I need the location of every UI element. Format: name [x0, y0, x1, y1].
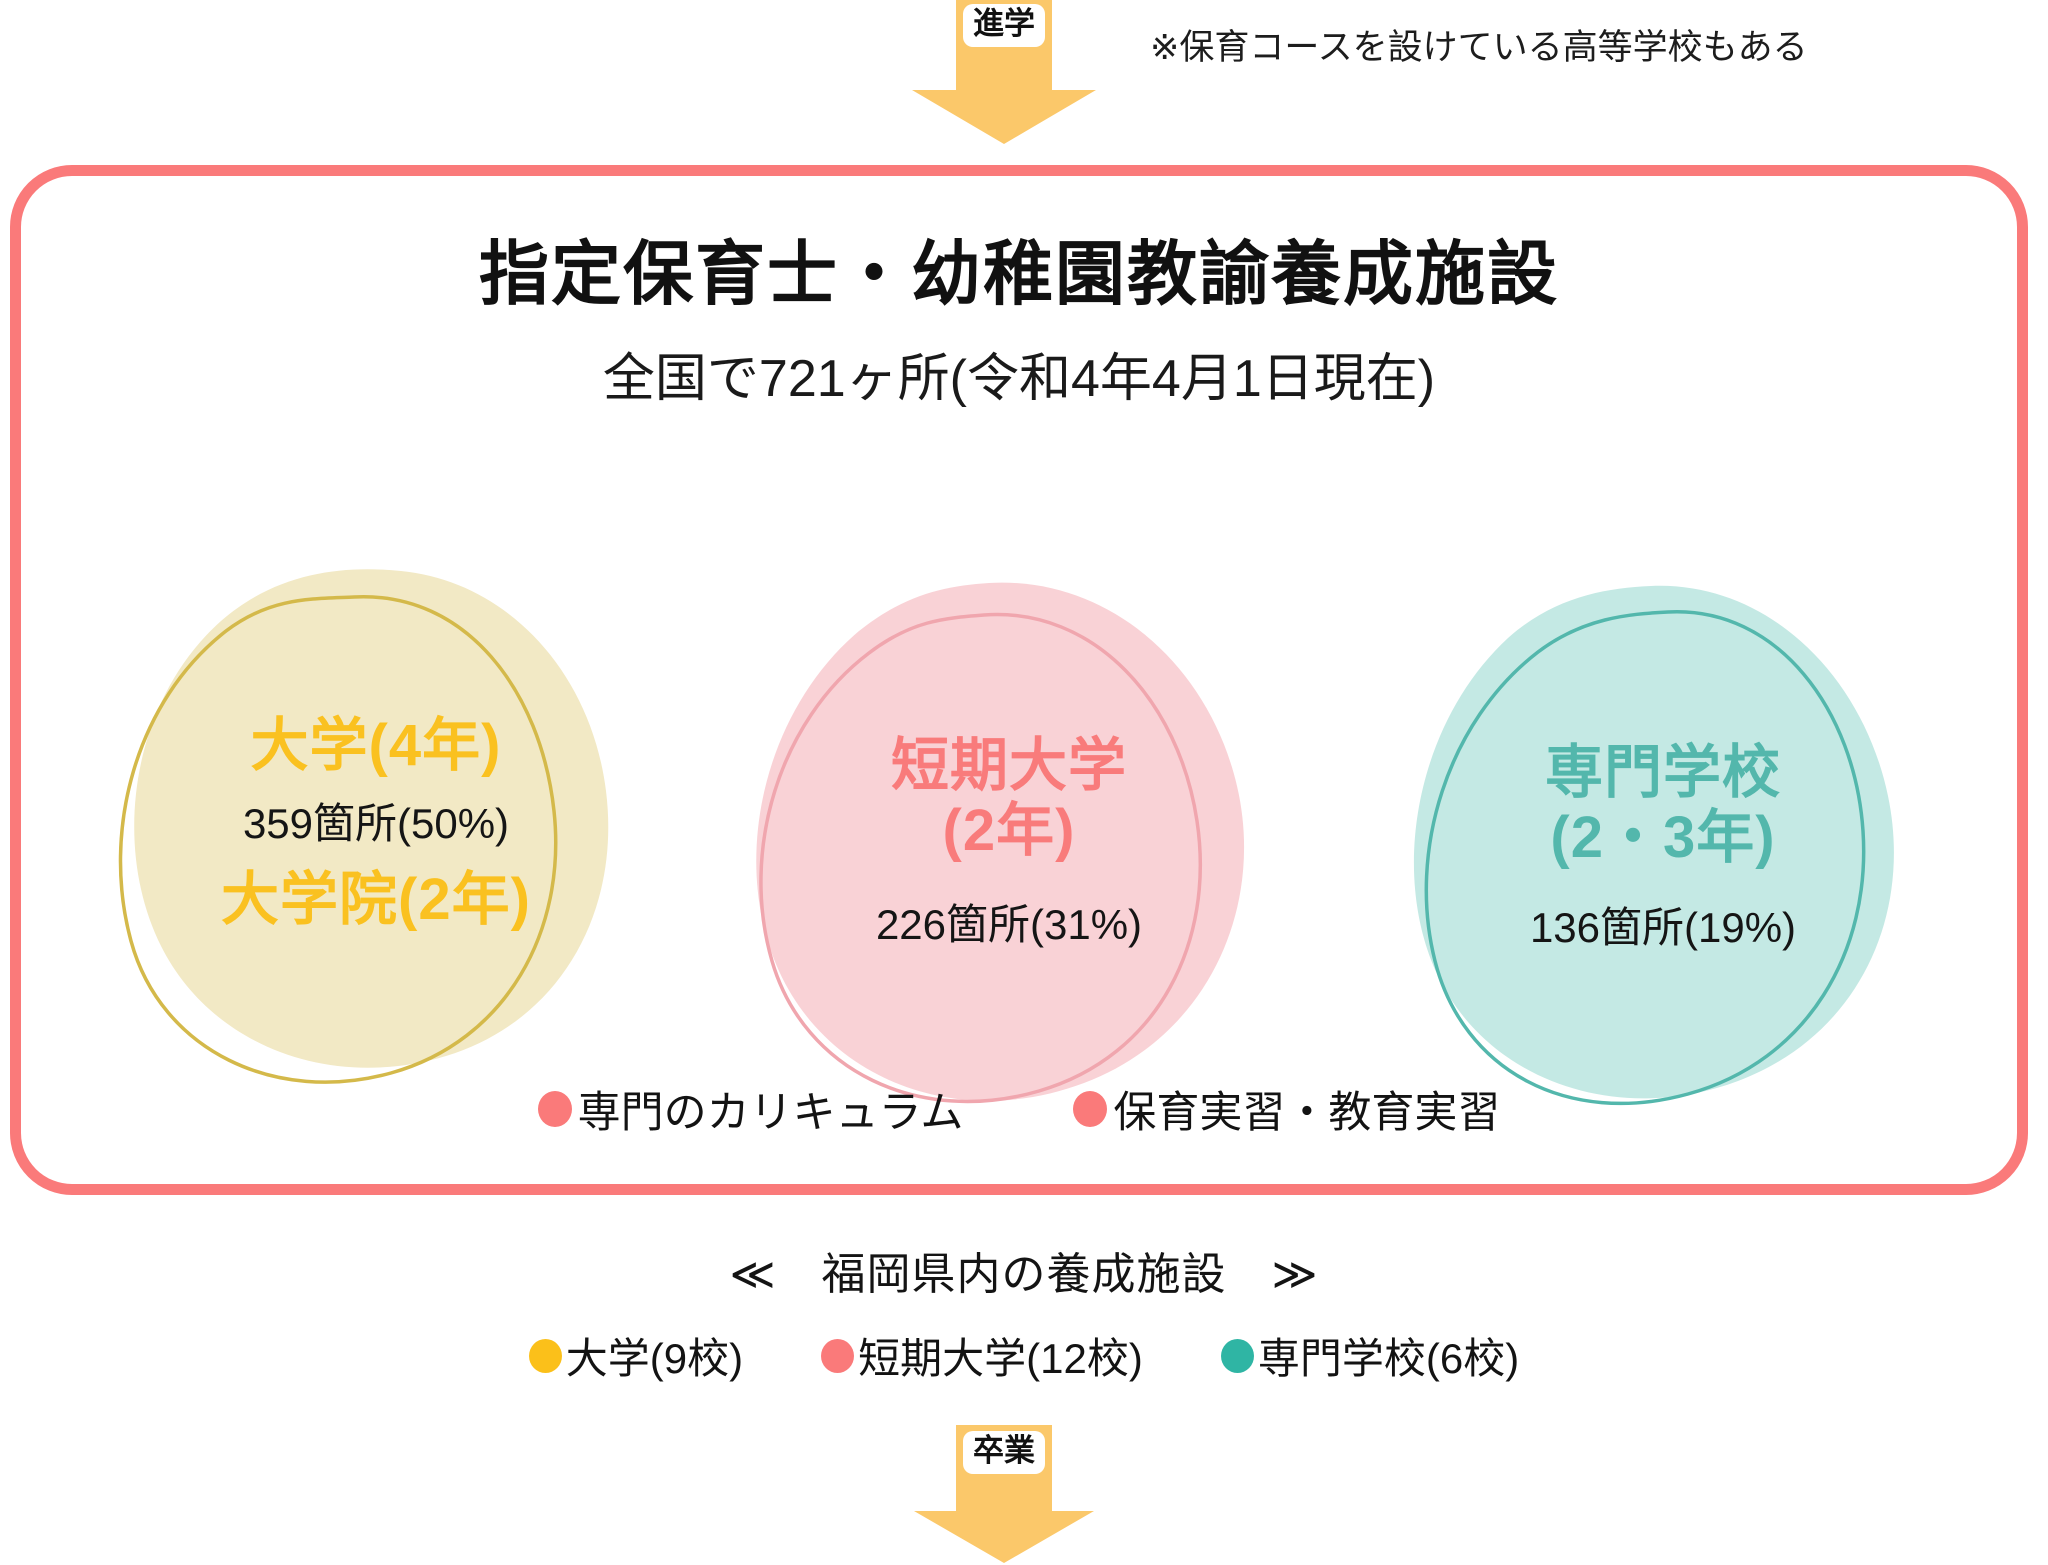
arrow-label-shinkaku: 進学 [963, 4, 1045, 47]
facility-blob-vocational-school: 専門学校 (2・3年) 136箇所(19%) [1393, 576, 1933, 1121]
facility-count-university: 359箇所(50%) [243, 797, 509, 852]
facility-name-graduate-school: 大学院(2年) [221, 868, 531, 933]
facility-count-vocational-school: 136箇所(19%) [1530, 901, 1796, 956]
facility-text-university: 大学(4年) 359箇所(50%) 大学院(2年) [106, 551, 646, 1096]
facility-count-junior-college: 226箇所(31%) [876, 898, 1142, 953]
bullet-dot-icon [1073, 1091, 1107, 1127]
fukuoka-legend-label-university: 大学(9校) [566, 1325, 743, 1386]
top-arrow-row: 進学 ※保育コースを設けている高等学校もある [0, 0, 2048, 150]
facilities-panel: 指定保育士・幼稚園教諭養成施設 全国で721ヶ所(令和4年4月1日現在) 大学(… [10, 165, 2028, 1195]
fukuoka-legend-label-vocational-school: 専門学校(6校) [1258, 1325, 1519, 1386]
graduation-arrow-down: 卒業 [884, 1425, 1124, 1565]
legend-item-curriculum: 専門のカリキュラム [538, 1078, 964, 1140]
legend-label-practicum: 保育実習・教育実習 [1113, 1078, 1500, 1140]
page-subtitle: 全国で721ヶ所(令和4年4月1日現在) [21, 336, 2017, 411]
progression-arrow-down: 進学 [884, 0, 1124, 146]
fukuoka-legend-label-junior-college: 短期大学(12校) [858, 1325, 1143, 1386]
facility-name-junior-college: 短期大学 [891, 734, 1127, 799]
curriculum-legend: 専門のカリキュラム 保育実習・教育実習 [21, 1078, 2017, 1140]
legend-item-practicum: 保育実習・教育実習 [1073, 1078, 1500, 1140]
facility-name-vocational-school: 専門学校 [1545, 741, 1781, 806]
fukuoka-legend-item-junior-college: 短期大学(12校) [821, 1325, 1143, 1386]
fukuoka-legend: 大学(9校) 短期大学(12校) 専門学校(6校) [0, 1325, 2048, 1386]
arrow-label-sotsugyou: 卒業 [963, 1431, 1045, 1474]
footnote-text: ※保育コースを設けている高等学校もある [1150, 27, 1808, 69]
fukuoka-legend-item-university: 大学(9校) [529, 1325, 743, 1386]
page-title: 指定保育士・幼稚園教諭養成施設 [21, 218, 2017, 319]
fukuoka-section-heading: ≪ 福岡県内の養成施設 ≫ [0, 1238, 2048, 1302]
facility-name-university: 大学(4年) [251, 714, 502, 779]
bullet-dot-icon [1221, 1339, 1254, 1373]
bullet-dot-icon [529, 1339, 562, 1373]
fukuoka-legend-item-vocational-school: 専門学校(6校) [1221, 1325, 1519, 1386]
facility-blob-university: 大学(4年) 359箇所(50%) 大学院(2年) [106, 551, 646, 1096]
facility-duration-junior-college: (2年) [943, 799, 1076, 864]
facility-duration-vocational-school: (2・3年) [1550, 806, 1775, 871]
bullet-dot-icon [538, 1091, 572, 1127]
legend-label-curriculum: 専門のカリキュラム [578, 1078, 964, 1140]
bullet-dot-icon [821, 1339, 854, 1373]
facility-blob-junior-college: 短期大学 (2年) 226箇所(31%) [739, 571, 1279, 1116]
facility-text-vocational-school: 専門学校 (2・3年) 136箇所(19%) [1393, 576, 1933, 1121]
facility-text-junior-college: 短期大学 (2年) 226箇所(31%) [739, 571, 1279, 1116]
